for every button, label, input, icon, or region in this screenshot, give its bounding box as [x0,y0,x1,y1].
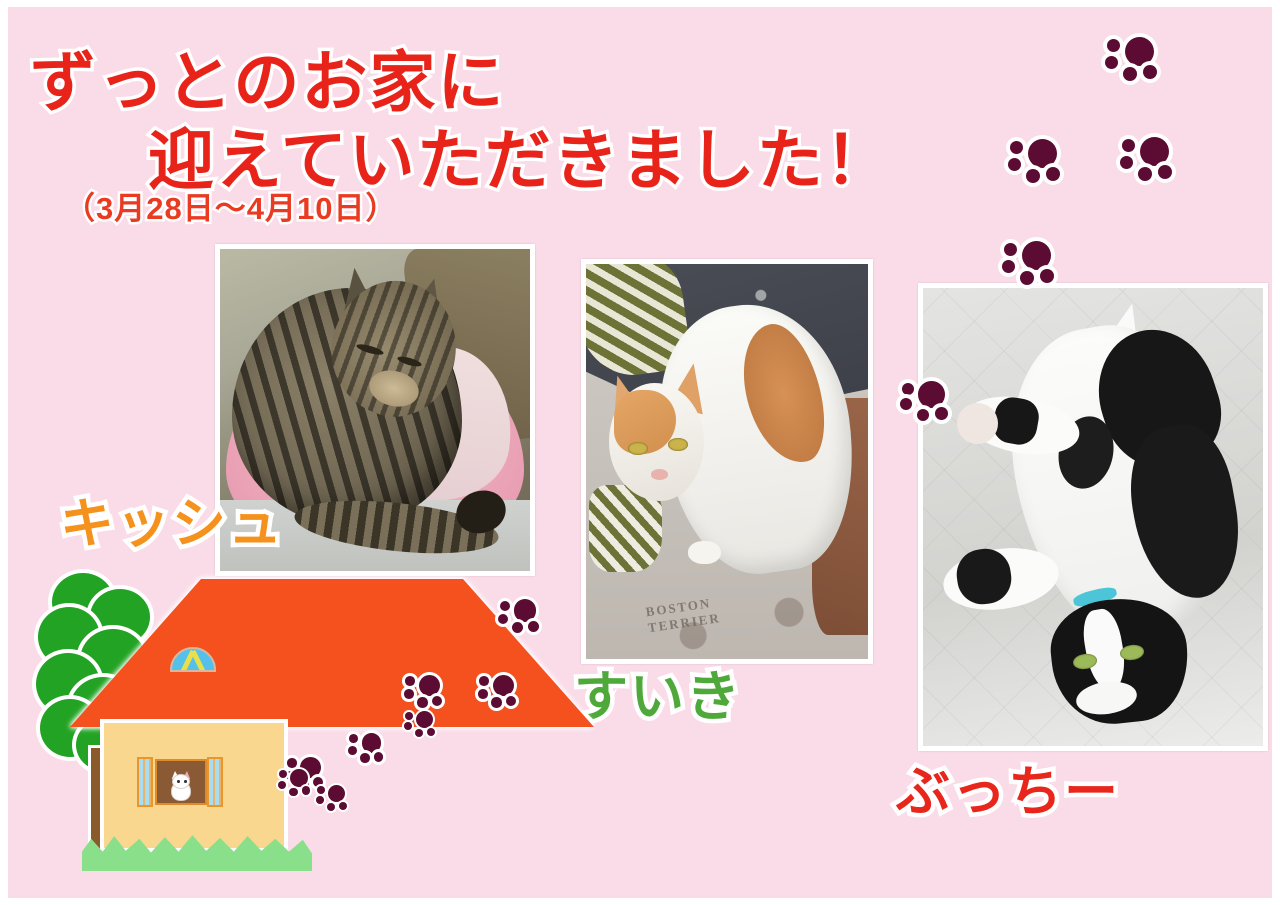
door-shutter-right [207,757,223,807]
photo2-cat-nose [651,469,668,479]
poster-canvas: ずっとのお家に 迎えていただきました！ （3月28日〜4月10日） [8,7,1272,898]
photo2-cat-eye-right [668,438,688,451]
cat-name-label-suiki: すいき [574,652,742,731]
paw-print-icon [1002,241,1058,291]
paw-print-icon [316,785,350,815]
cat-name-label-bucchi: ぶっちー [896,747,1120,826]
paw-print-icon [478,675,519,712]
paw-print-icon [404,711,438,741]
paw-print-icon [1008,139,1064,189]
photo2-cat-eye-left [628,442,648,455]
cat-photo-bucchi [918,283,1268,751]
door-shutter-left [137,757,153,807]
paw-print-icon [1120,137,1176,187]
cat-photo-suiki: BOSTON TERRIER [581,259,873,664]
paw-print-icon [900,381,952,427]
paw-print-icon [348,733,386,767]
paw-print-icon [498,599,542,638]
title-date-range: （3月28日〜4月10日） [64,183,397,228]
house-illustration [30,563,320,888]
photo2-cat-paw [688,541,722,565]
page-root: ずっとのお家に 迎えていただきました！ （3月28日〜4月10日） [0,0,1280,905]
doorway-cat-icon [168,771,194,801]
cat-name-label-kisshu: キッシュ [60,479,284,558]
paw-print-icon [278,769,313,800]
photo-suiki-content: BOSTON TERRIER [586,264,868,659]
paw-print-icon [1105,37,1161,87]
photo-bucchi-content [923,288,1263,746]
paw-print-icon [404,675,445,712]
